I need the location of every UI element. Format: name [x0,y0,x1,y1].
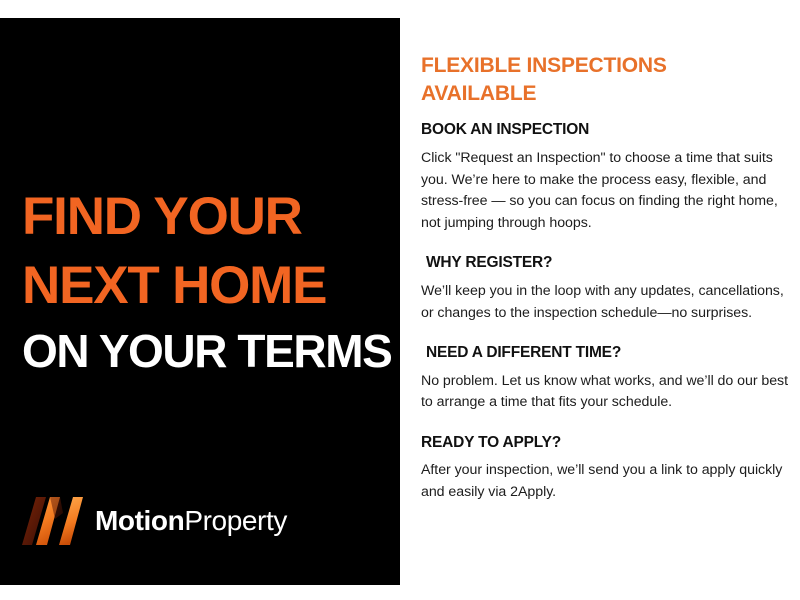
logo-word-primary: Motion [95,505,184,536]
section-heading-book-an-inspection: BOOK AN INSPECTION [421,121,793,140]
logo: MotionProperty [22,497,287,545]
hero-headline-line-2: NEXT HOME [22,259,400,312]
section-heading-ready-to-apply: READY TO APPLY? [421,434,793,453]
hero-headline-line-1: FIND YOUR [22,190,400,243]
section-why-register: WHY REGISTER? We’ll keep you in the loop… [421,254,793,324]
inspection-info-flyer: FIND YOUR NEXT HOME ON YOUR TERMS [0,0,800,600]
section-heading-why-register: WHY REGISTER? [421,254,793,273]
section-body-ready-to-apply: After your inspection, we’ll send you a … [421,460,793,503]
page-title: FLEXIBLE INSPECTIONS AVAILABLE [421,0,701,107]
hero-headline-line-3: ON YOUR TERMS [22,328,400,374]
section-ready-to-apply: READY TO APPLY? After your inspection, w… [421,434,793,504]
section-body-book-an-inspection: Click "Request an Inspection" to choose … [421,148,793,234]
logo-word-secondary: Property [184,505,287,536]
section-heading-need-a-different-time: NEED A DIFFERENT TIME? [421,344,793,363]
hero-panel: FIND YOUR NEXT HOME ON YOUR TERMS [0,18,400,585]
section-book-an-inspection: BOOK AN INSPECTION Click "Request an Ins… [421,121,793,234]
logo-wordmark: MotionProperty [95,507,287,535]
section-body-why-register: We’ll keep you in the loop with any upda… [421,281,793,324]
hero-headline: FIND YOUR NEXT HOME ON YOUR TERMS [22,190,400,374]
section-body-need-a-different-time: No problem. Let us know what works, and … [421,371,793,414]
content-panel: FLEXIBLE INSPECTIONS AVAILABLE BOOK AN I… [421,0,793,600]
section-need-a-different-time: NEED A DIFFERENT TIME? No problem. Let u… [421,344,793,414]
motion-property-m-mark-icon [22,497,84,545]
